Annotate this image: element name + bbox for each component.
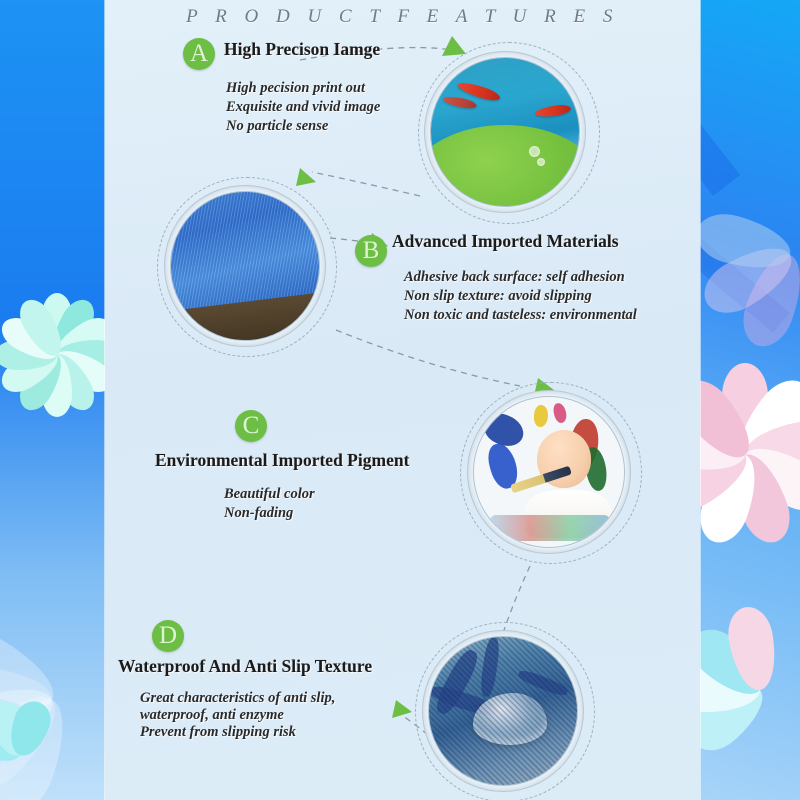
body-c-line-2: Non-fading	[224, 505, 293, 522]
product-features-poster: P R O D U C T F E A T U R E S A High Pre…	[0, 0, 800, 800]
body-d-line-3: Prevent from slipping risk	[140, 724, 296, 741]
paint-splat	[490, 515, 610, 541]
heading-c: Environmental Imported Pigment	[155, 450, 409, 471]
body-c-line-1: Beautiful color	[224, 486, 315, 503]
heading-d: Waterproof And Anti Slip Texture	[118, 656, 372, 677]
body-a-line-3: No particle sense	[226, 118, 328, 135]
heading-a: High Precison Iamge	[224, 39, 380, 60]
badge-d: D	[152, 620, 184, 652]
body-b-line-2: Non slip texture: avoid slipping	[404, 288, 592, 305]
badge-b: B	[355, 235, 387, 267]
body-b-line-1: Adhesive back surface: self adhesion	[404, 269, 625, 286]
body-b-line-3: Non toxic and tasteless: environmental	[404, 307, 637, 324]
badge-c: C	[235, 410, 267, 442]
body-a-line-1: High pecision print out	[226, 80, 365, 97]
body-a-line-2: Exquisite and vivid image	[226, 99, 380, 116]
body-d-line-1: Great characteristics of anti slip,	[140, 690, 335, 707]
page-title: P R O D U C T F E A T U R E S	[105, 6, 700, 28]
heading-b: Advanced Imported Materials	[392, 231, 619, 252]
badge-a: A	[183, 38, 215, 70]
painting-baby-photo	[468, 391, 630, 553]
water-droplet-photo	[423, 631, 583, 791]
bubble	[529, 146, 540, 157]
bubble	[537, 158, 545, 166]
koi-pond-photo	[425, 52, 585, 212]
body-d-line-2: waterproof, anti enzyme	[140, 707, 284, 724]
blue-fabric-photo	[165, 186, 325, 346]
